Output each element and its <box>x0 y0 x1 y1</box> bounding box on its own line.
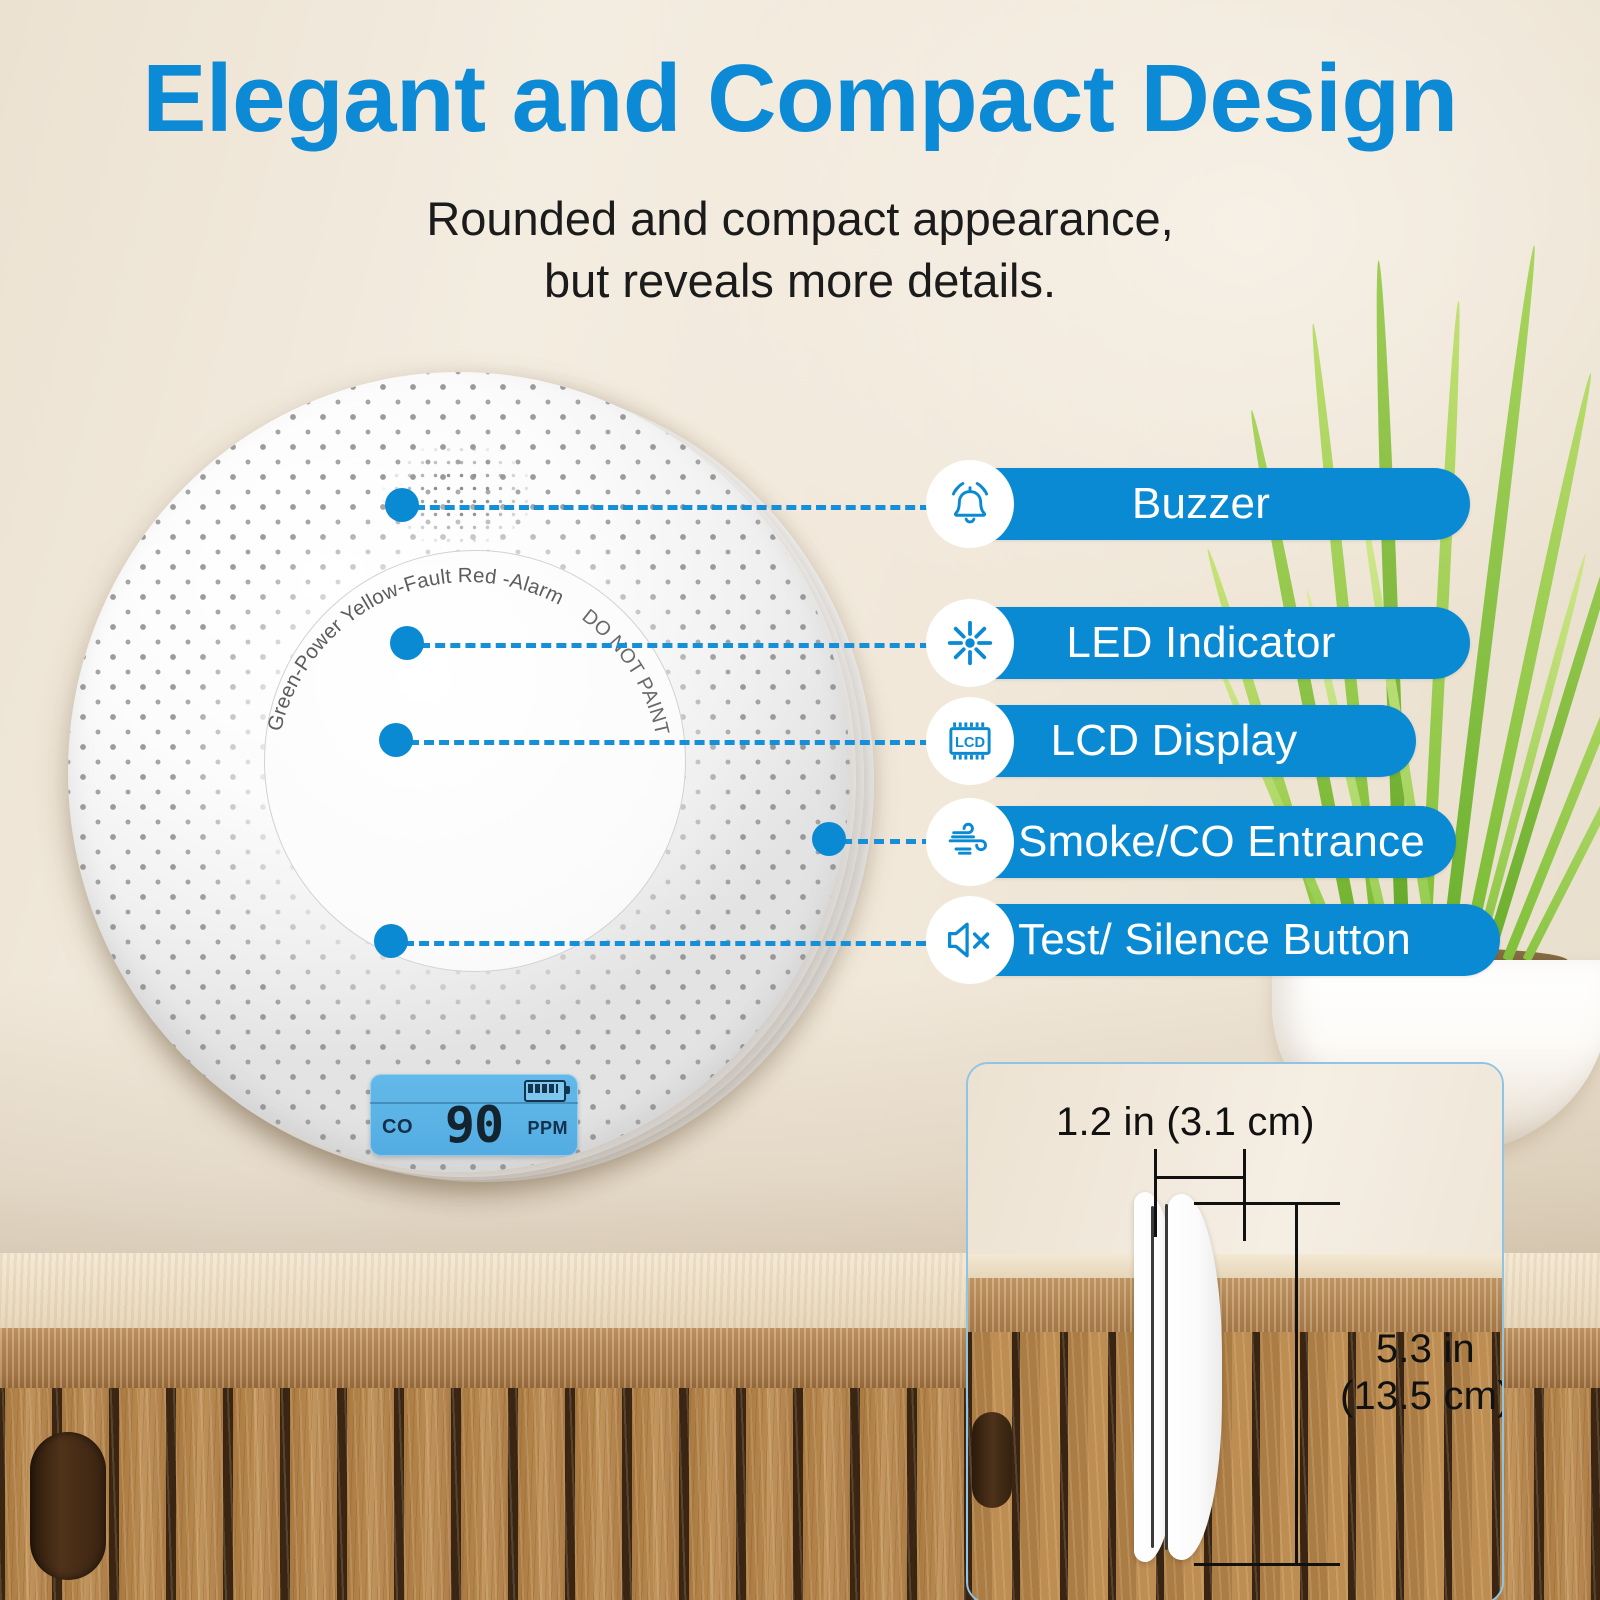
callout-line-smoke <box>842 839 932 844</box>
page-title: Elegant and Compact Design <box>0 44 1600 154</box>
smoke-alarm-device: Green-Power Yellow-Fault Red -Alarm DO N… <box>68 372 880 1192</box>
device-face: Green-Power Yellow-Fault Red -Alarm DO N… <box>68 372 850 1172</box>
subtitle-line-1: Rounded and compact appearance, <box>0 188 1600 250</box>
dim-width-tick-right <box>1243 1149 1246 1241</box>
callout-dot-test-button <box>374 924 408 958</box>
curved-text-right-path: DO NOT PAINT <box>578 605 673 737</box>
device-side-profile <box>1134 1192 1224 1562</box>
inset-wall <box>968 1064 1502 1264</box>
airflow-icon <box>926 798 1014 886</box>
lcd-display: CO 90 PPM <box>370 1074 578 1156</box>
battery-bars <box>528 1084 558 1093</box>
dim-height-tick-top <box>1194 1202 1340 1205</box>
dim-height-label-line2: (13.5 cm) <box>1340 1373 1504 1420</box>
callout-dot-lcd <box>379 723 413 757</box>
dim-height-line <box>1295 1202 1298 1566</box>
device-curved-text: Green-Power Yellow-Fault Red -Alarm DO N… <box>218 512 718 1012</box>
dim-width-label: 1.2 in (3.1 cm) <box>1056 1100 1315 1145</box>
callout-dot-buzzer <box>385 488 419 522</box>
infographic-canvas: Green-Power Yellow-Fault Red -Alarm DO N… <box>0 0 1600 1600</box>
lcd-screen-icon: LCD <box>926 697 1014 785</box>
callout-test-silence[interactable]: Test/ Silence Button <box>932 904 1500 976</box>
cabinet-handle <box>30 1432 106 1580</box>
callout-lcd-display[interactable]: LCD LCD Display <box>932 705 1416 777</box>
curved-text-right: DO NOT PAINT <box>578 605 673 737</box>
callout-line-led <box>420 643 930 648</box>
lcd-gas-label: CO <box>382 1116 413 1139</box>
speaker-mute-icon <box>926 896 1014 984</box>
bell-icon <box>926 460 1014 548</box>
inset-scene: 1.2 in (3.1 cm) 5.3 in (13.5 cm) <box>968 1064 1502 1600</box>
callout-line-test <box>404 941 926 946</box>
callout-line-lcd <box>409 740 930 745</box>
inset-counter-top <box>968 1254 1502 1280</box>
inset-cabinet-handle <box>972 1412 1012 1508</box>
callout-buzzer[interactable]: Buzzer <box>932 468 1470 540</box>
device-seam-1 <box>1151 1206 1154 1548</box>
device-side-front <box>1168 1194 1222 1560</box>
starburst-icon <box>926 599 1014 687</box>
lcd-value: 90 <box>445 1100 503 1150</box>
callout-led-indicator[interactable]: LED Indicator <box>932 607 1470 679</box>
callout-line-buzzer <box>415 505 930 510</box>
dimension-inset-panel: 1.2 in (3.1 cm) 5.3 in (13.5 cm) <box>966 1062 1504 1600</box>
dim-width-tick-left <box>1154 1149 1157 1237</box>
battery-icon <box>524 1080 566 1102</box>
callout-label-test: Test/ Silence Button <box>932 915 1500 965</box>
page-subtitle: Rounded and compact appearance, but reve… <box>0 188 1600 312</box>
dim-height-label: 5.3 in (13.5 cm) <box>1340 1326 1504 1420</box>
dim-width-line <box>1154 1176 1246 1179</box>
lcd-unit: PPM <box>527 1118 568 1139</box>
subtitle-line-2: but reveals more details. <box>0 250 1600 312</box>
dim-height-tick-bot <box>1194 1563 1340 1566</box>
device-seam-2 <box>1165 1204 1168 1550</box>
svg-text:LCD: LCD <box>955 735 985 751</box>
dim-height-label-line1: 5.3 in <box>1340 1326 1504 1373</box>
callout-dot-led <box>390 626 424 660</box>
callout-smoke-entrance[interactable]: Smoke/CO Entrance <box>932 806 1456 878</box>
callout-dot-smoke-entrance <box>812 822 846 856</box>
